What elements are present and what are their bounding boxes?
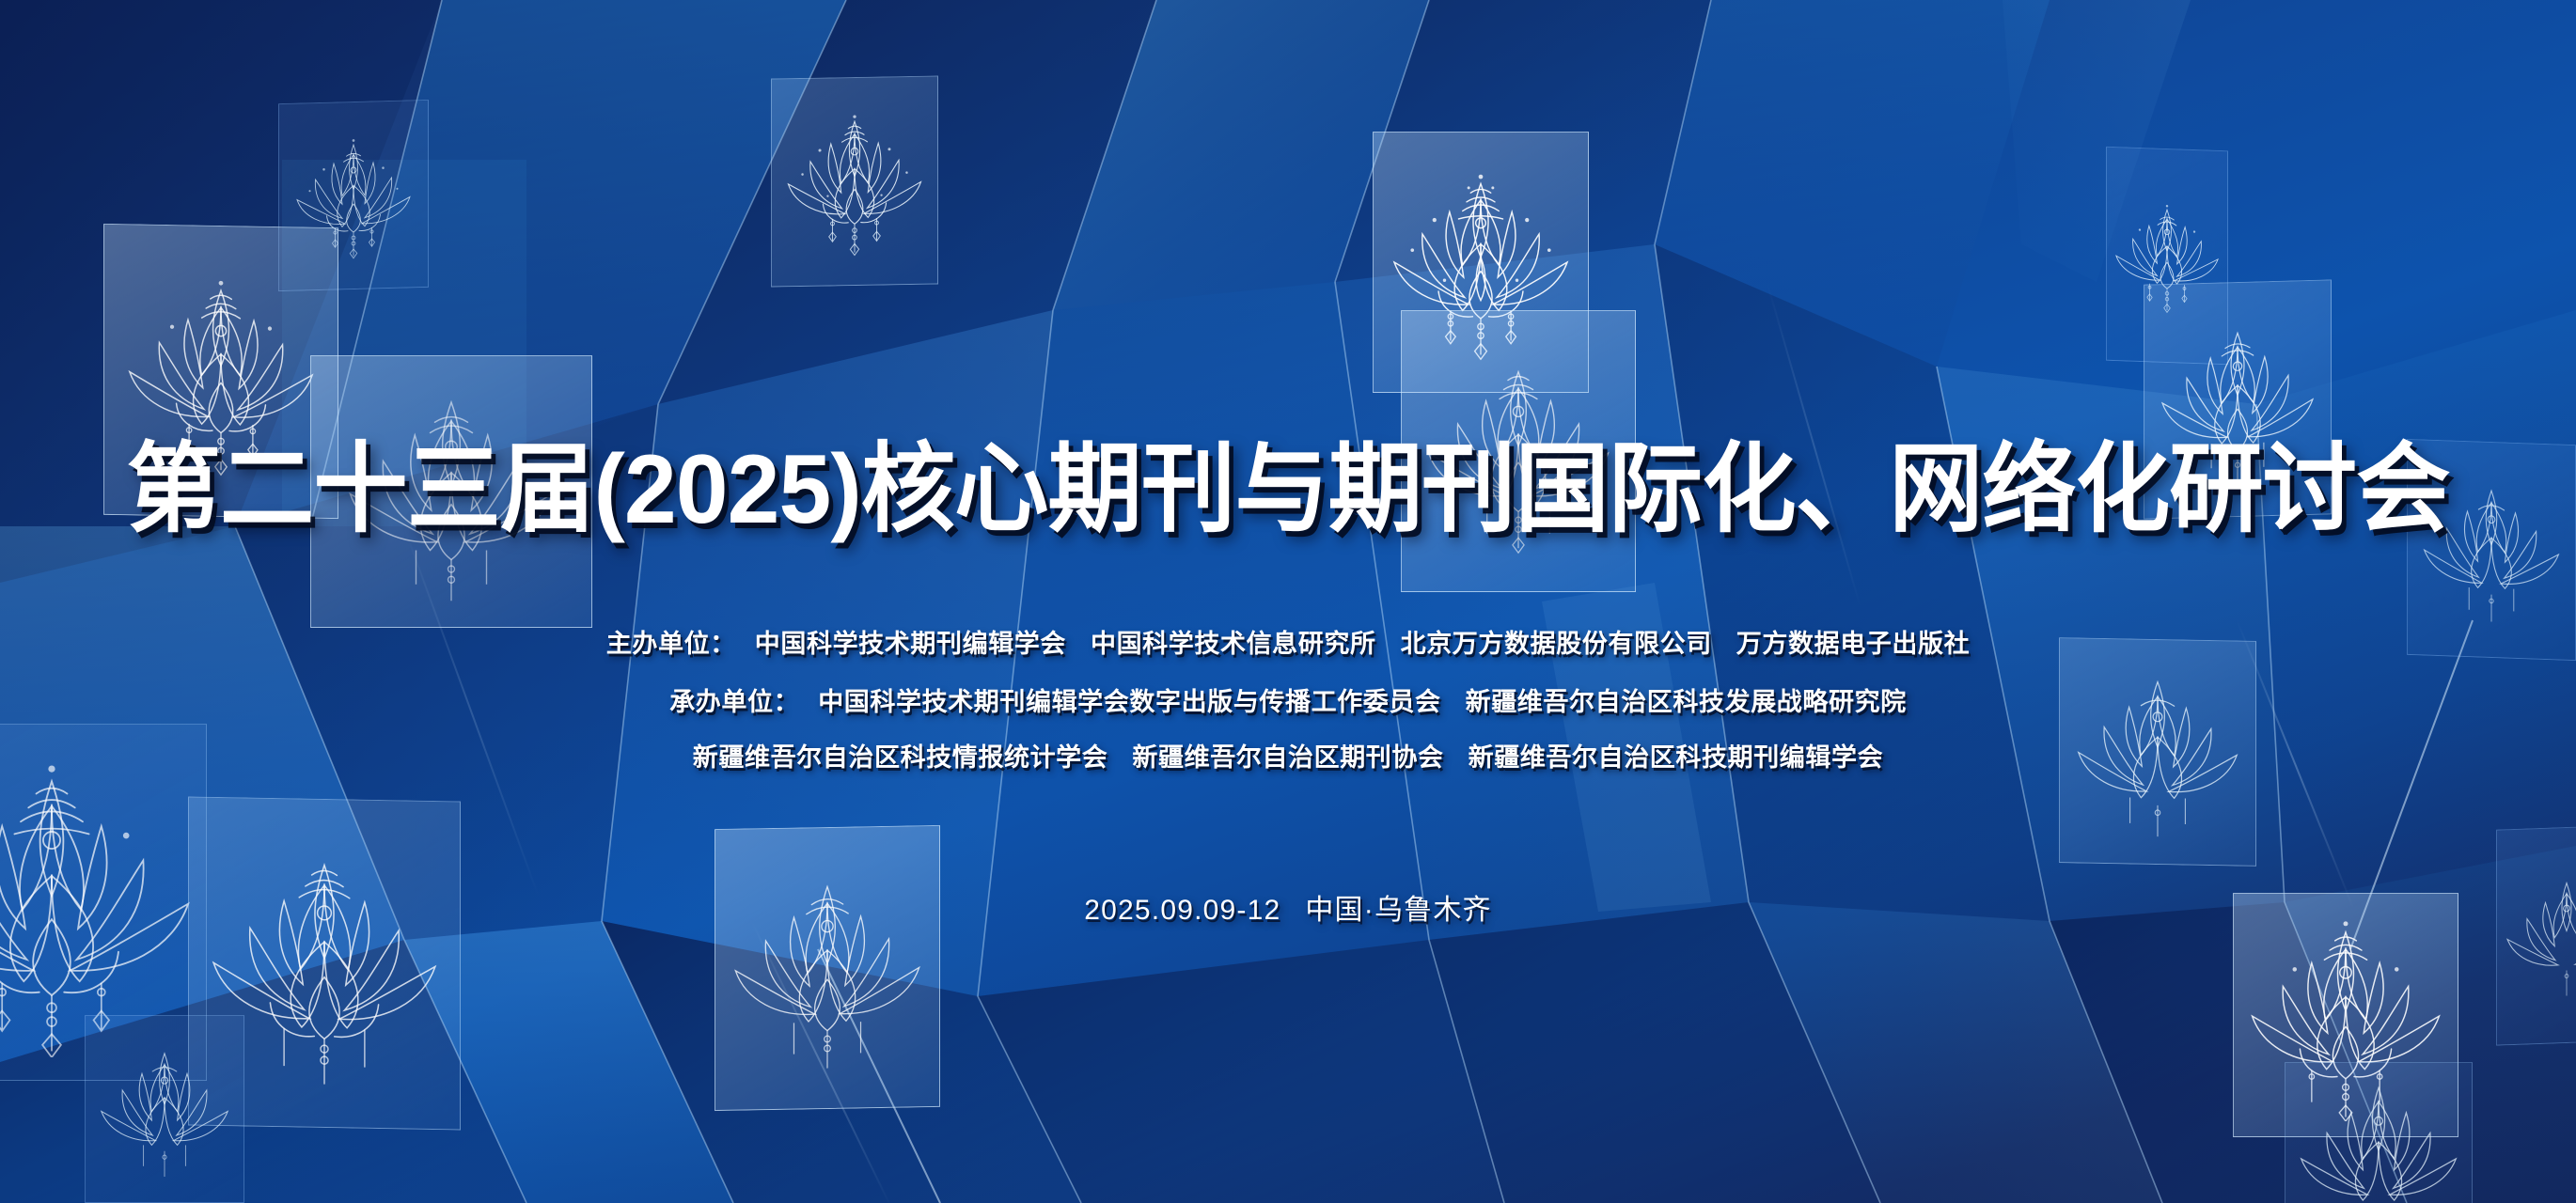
date-location-line: 2025.09.09-12中国·乌鲁木齐 bbox=[0, 897, 2576, 925]
host-item-2: 北京万方数据股份有限公司 bbox=[1401, 630, 1712, 658]
lotus-panel bbox=[715, 825, 940, 1111]
lotus-panel bbox=[85, 1015, 244, 1203]
coorganizers-line-1: 承办单位：中国科学技术期刊编辑学会数字出版与传播工作委员会新疆维吾尔自治区科技发… bbox=[0, 690, 2576, 715]
host-label: 主办单位： bbox=[606, 630, 736, 658]
coorg-label: 承办单位： bbox=[669, 688, 799, 716]
lotus-panel bbox=[2285, 1062, 2473, 1203]
lotus-mandala-icon bbox=[2496, 862, 2576, 1008]
event-date: 2025.09.09-12 bbox=[1084, 895, 1280, 926]
host-item-1: 中国科学技术信息研究所 bbox=[1091, 630, 1376, 658]
page-title: 第二十三届(2025)核心期刊与期刊国际化、网络化研讨会 bbox=[45, 440, 2531, 539]
host-item-0: 中国科学技术期刊编辑学会 bbox=[755, 630, 1066, 658]
event-location: 中国·乌鲁木齐 bbox=[1305, 895, 1491, 926]
lotus-panel bbox=[771, 75, 938, 287]
coorg-item-4: 新疆维吾尔自治区科技期刊编辑学会 bbox=[1469, 743, 1884, 772]
lotus-panel bbox=[2496, 824, 2576, 1045]
coorganizers-line-2: 新疆维吾尔自治区科技情报统计学会新疆维吾尔自治区期刊协会新疆维吾尔自治区科技期刊… bbox=[0, 745, 2576, 771]
lotus-mandala-icon bbox=[89, 1034, 240, 1184]
host-item-3: 万方数据电子出版社 bbox=[1736, 630, 1970, 658]
lotus-mandala-icon bbox=[776, 102, 934, 262]
coorg-item-1: 新疆维吾尔自治区科技发展战略研究院 bbox=[1466, 688, 1907, 716]
conference-banner: 第二十三届(2025)核心期刊与期刊国际化、网络化研讨会 主办单位：中国科学技术… bbox=[0, 0, 2576, 1203]
lotus-mandala-icon bbox=[2286, 1064, 2471, 1203]
coorg-item-0: 中国科学技术期刊编辑学会数字出版与传播工作委员会 bbox=[818, 688, 1440, 716]
lotus-mandala-icon bbox=[723, 862, 932, 1074]
host-organizers-line: 主办单位：中国科学技术期刊编辑学会中国科学技术信息研究所北京万方数据股份有限公司… bbox=[0, 632, 2576, 657]
coorg-item-2: 新疆维吾尔自治区科技情报统计学会 bbox=[693, 743, 1108, 772]
coorg-item-3: 新疆维吾尔自治区期刊协会 bbox=[1132, 743, 1443, 772]
